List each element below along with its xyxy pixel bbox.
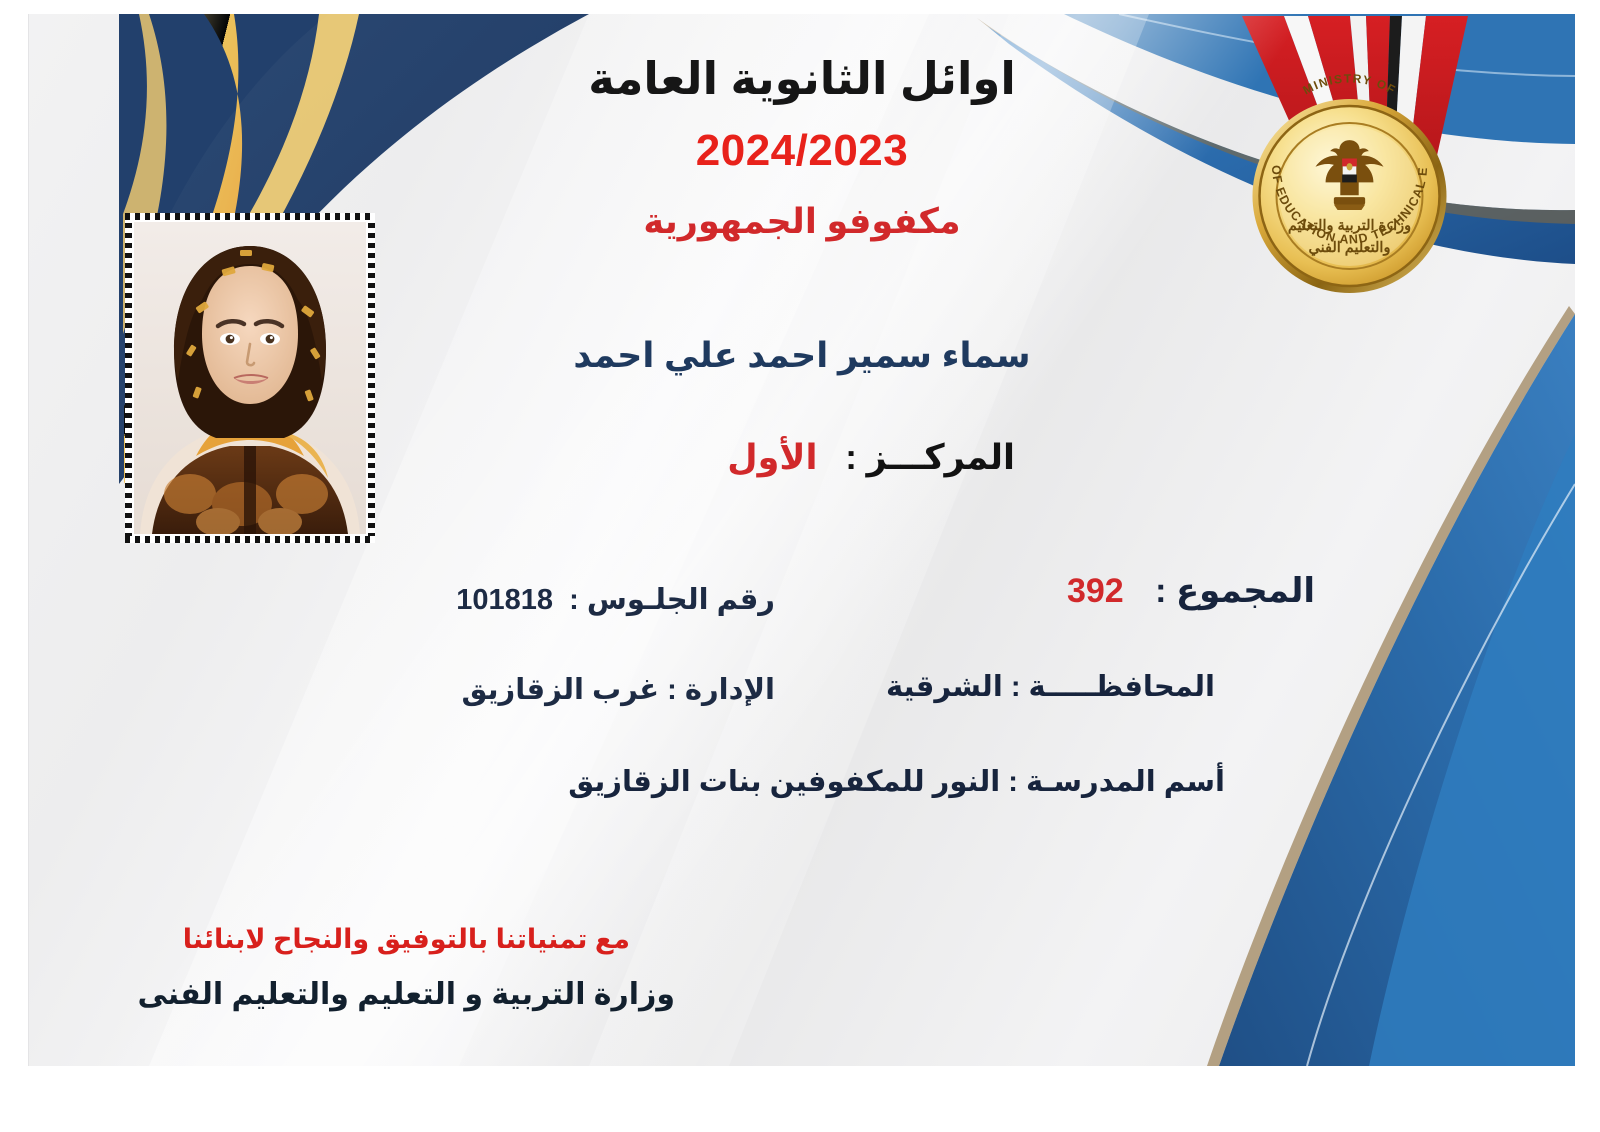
rank-value: الأول [727,438,817,477]
student-name: سماء سمير احمد علي احمد [29,336,1575,376]
governorate-value: الشرقية [886,671,1003,703]
seat-value: 101818 [456,584,553,616]
right-blue-swoosh [1207,306,1575,1066]
certificate-title: اوائل الثانوية العامة [29,52,1575,105]
governorate-label: المحافظـــــة : [1011,671,1215,703]
total-value: 392 [1067,572,1124,610]
school-row: أسم المدرسـة : النور للمكفوفين بنات الزق… [568,764,1225,799]
total-score-row: المجموع : 392 [1067,571,1315,611]
governorate-row: المحافظـــــة : الشرقية [886,669,1215,704]
certificate-subtitle: مكفوفو الجمهورية [29,202,1575,242]
seat-label: رقم الجلـوس : [569,584,775,616]
rank-label: المركـــز : [845,438,1015,477]
rank-row: المركـــز : الأول [727,438,1015,478]
photo-image [134,222,366,534]
academic-year: 2024/2023 [29,126,1575,176]
certificate-card: MINISTRY OF EDUCATION AND TECHNICAL EDUC… [28,14,1575,1066]
school-label: أسم المدرسـة : [1008,766,1225,798]
administration-row: الإدارة : غرب الزقازيق [462,672,775,707]
student-photo [125,213,375,543]
medal-center-text-line2: والتعليم الفني [1309,240,1391,257]
seat-number-row: رقم الجلـوس : 101818 [456,582,775,617]
certificate-page: MINISTRY OF EDUCATION AND TECHNICAL EDUC… [0,0,1600,1132]
administration-value: غرب الزقازيق [462,674,660,706]
footer-wish-message: مع تمنياتنا بالتوفيق والنجاح لابنائنا [183,924,630,955]
footer-ministry-name: وزارة التربية و التعليم والتعليم الفنى [137,977,675,1012]
administration-label: الإدارة : [667,674,775,706]
total-label: المجموع : [1155,572,1315,610]
school-value: النور للمكفوفين بنات الزقازيق [568,766,1000,798]
